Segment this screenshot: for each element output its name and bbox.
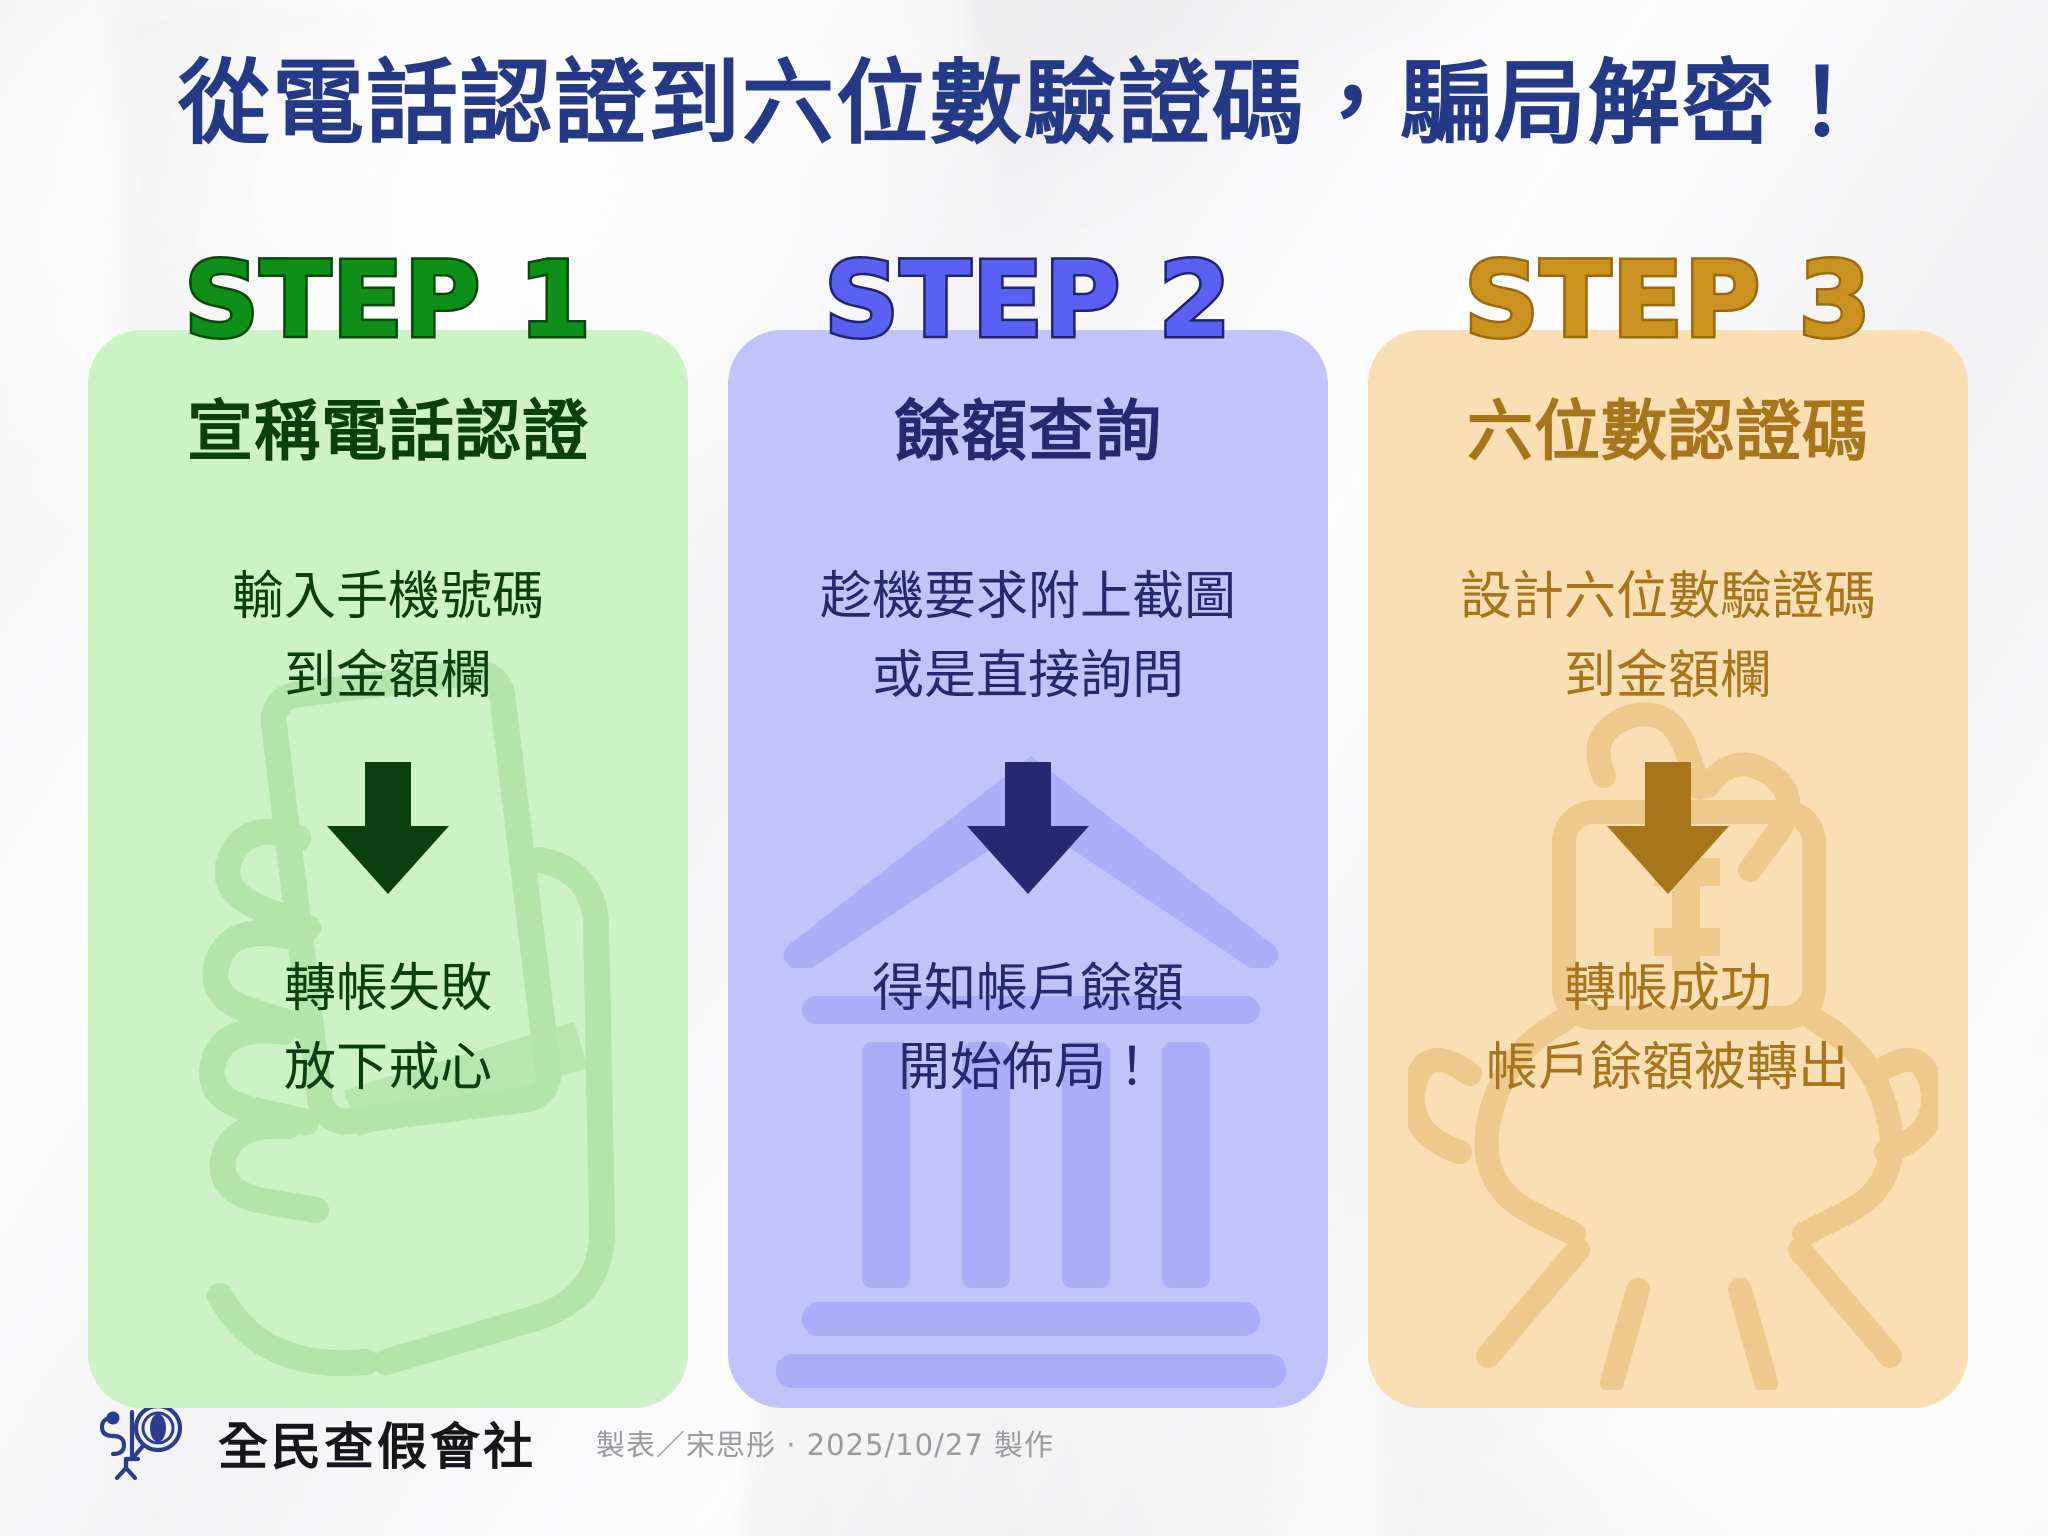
card-body-top-1: 輸入手機號碼 到金額欄 [88,558,688,716]
card-body-bottom-3-line2: 帳戶餘額被轉出 [1368,1029,1968,1108]
card-body-top-3-line1: 設計六位數驗證碼 [1368,558,1968,637]
step-card-1: 宣稱電話認證 輸入手機號碼 到金額欄 轉帳失敗 放下戒心 [88,330,688,1408]
card-heading-1: 宣稱電話認證 [88,378,688,474]
card-body-top-3: 設計六位數驗證碼 到金額欄 [1368,558,1968,716]
down-arrow-icon [1603,762,1733,894]
card-body-bottom-1-line2: 放下戒心 [88,1029,688,1108]
down-arrow-icon [323,762,453,894]
down-arrow-icon [963,762,1093,894]
card-body-top-3-line2: 到金額欄 [1368,637,1968,716]
step-card-2: 餘額查詢 趁機要求附上截圖 或是直接詢問 得知帳戶餘額 開始佈局！ [728,330,1328,1408]
card-body-bottom-1-line1: 轉帳失敗 [88,950,688,1029]
page-title: 從電話認證到六位數驗證碼，騙局解密！ [0,50,2048,159]
step-card-1-content: 宣稱電話認證 輸入手機號碼 到金額欄 轉帳失敗 放下戒心 [88,330,688,1408]
step-label-3: STEP 3 [1368,248,1968,352]
step-card-3-content: 六位數認證碼 設計六位數驗證碼 到金額欄 轉帳成功 帳戶餘額被轉出 [1368,330,1968,1408]
footer: 全民查假會社 製表／宋思彤 · 2025/10/27 製作 [96,1402,1054,1484]
credit-text: 製表／宋思彤 · 2025/10/27 製作 [596,1422,1054,1464]
card-body-bottom-2-line1: 得知帳戶餘額 [728,950,1328,1029]
magnifier-person-logo-icon [96,1402,192,1484]
step-label-2: STEP 2 [728,248,1328,352]
card-heading-3: 六位數認證碼 [1368,378,1968,474]
step-label-1: STEP 1 [88,248,688,352]
card-body-top-1-line2: 到金額欄 [88,637,688,716]
step-column-2: STEP 2 餘額查詢 [728,248,1328,1408]
step-card-2-content: 餘額查詢 趁機要求附上截圖 或是直接詢問 得知帳戶餘額 開始佈局！ [728,330,1328,1408]
step-column-3: STEP 3 [1368,248,1968,1408]
card-body-top-2-line1: 趁機要求附上截圖 [728,558,1328,637]
card-body-top-1-line1: 輸入手機號碼 [88,558,688,637]
card-body-bottom-2: 得知帳戶餘額 開始佈局！ [728,950,1328,1108]
steps-container: STEP 1 [88,248,1968,1408]
card-body-bottom-3-line1: 轉帳成功 [1368,950,1968,1029]
card-body-bottom-3: 轉帳成功 帳戶餘額被轉出 [1368,950,1968,1108]
card-heading-2: 餘額查詢 [728,378,1328,474]
logo-text: 全民查假會社 [218,1407,536,1479]
card-body-top-2: 趁機要求附上截圖 或是直接詢問 [728,558,1328,716]
card-body-top-2-line2: 或是直接詢問 [728,637,1328,716]
step-card-3: 六位數認證碼 設計六位數驗證碼 到金額欄 轉帳成功 帳戶餘額被轉出 [1368,330,1968,1408]
infographic-page: 從電話認證到六位數驗證碼，騙局解密！ STEP 1 [0,0,2048,1536]
card-body-bottom-2-line2: 開始佈局！ [728,1029,1328,1108]
card-body-bottom-1: 轉帳失敗 放下戒心 [88,950,688,1108]
step-column-1: STEP 1 [88,248,688,1408]
